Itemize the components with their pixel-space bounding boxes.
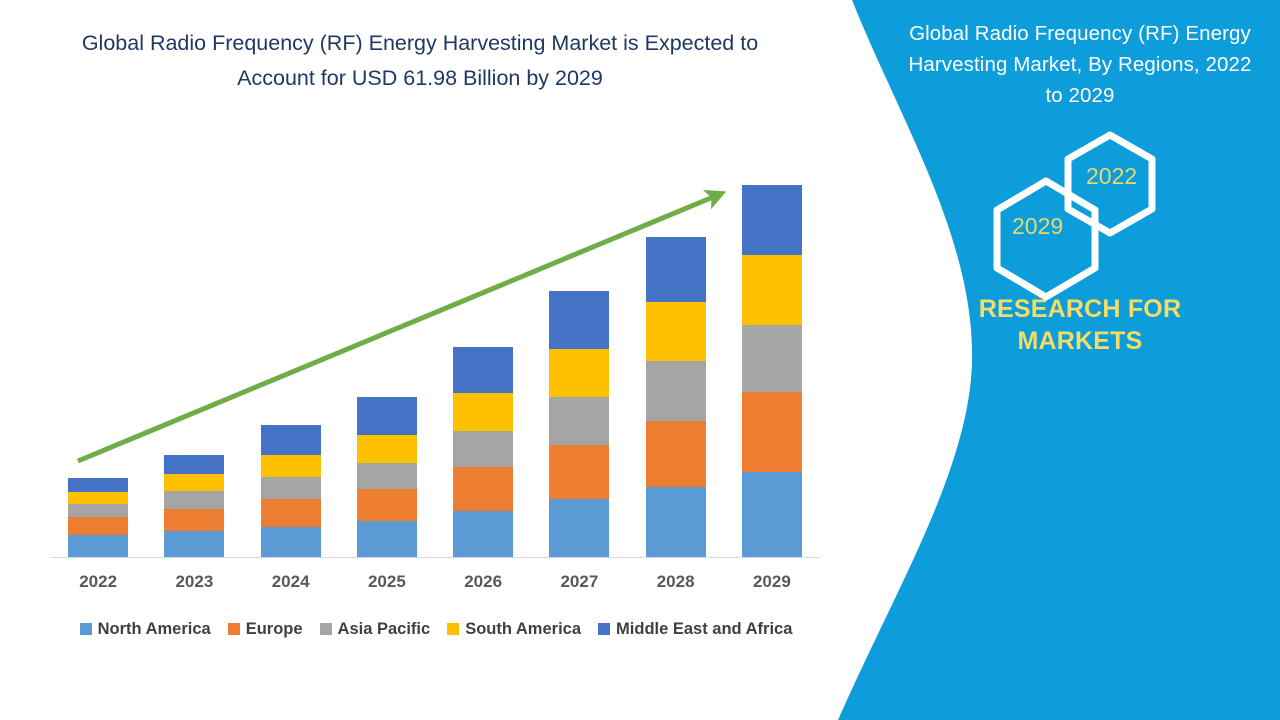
bar-segment xyxy=(453,347,513,393)
legend-swatch-icon xyxy=(598,623,610,635)
bar-segment xyxy=(549,349,609,397)
bar-segment xyxy=(261,477,321,499)
bar-segment xyxy=(453,511,513,557)
legend-item[interactable]: Asia Pacific xyxy=(320,620,431,639)
bar-segment xyxy=(742,392,802,472)
legend-label: Europe xyxy=(246,620,303,639)
bar-segment xyxy=(164,455,224,474)
bar-segment xyxy=(261,425,321,455)
bar-segment xyxy=(646,421,706,487)
hexagon-2029-label: 2029 xyxy=(1012,213,1063,240)
x-axis-labels: 20222023202420252026202720282029 xyxy=(50,572,820,598)
bar-segment xyxy=(549,445,609,499)
legend-swatch-icon xyxy=(447,623,459,635)
bar-segment xyxy=(453,467,513,511)
legend-item[interactable]: North America xyxy=(80,620,211,639)
bar-segment xyxy=(261,455,321,477)
panel-content: Global Radio Frequency (RF) Energy Harve… xyxy=(880,0,1280,720)
bar-segment xyxy=(549,397,609,445)
bar-segment xyxy=(164,531,224,557)
bar-column-2022 xyxy=(68,478,128,557)
bar-segment xyxy=(742,472,802,557)
bar-segment xyxy=(357,521,417,557)
bar-segment xyxy=(357,397,417,435)
bar-segment xyxy=(357,435,417,463)
legend-label: Asia Pacific xyxy=(338,620,431,639)
x-axis-label-2027: 2027 xyxy=(531,572,627,592)
bar-segment xyxy=(742,185,802,255)
legend-swatch-icon xyxy=(228,623,240,635)
legend-item[interactable]: Europe xyxy=(228,620,303,639)
bar-segment xyxy=(742,255,802,325)
bar-column-2025 xyxy=(357,397,417,557)
infographic-canvas: Global Radio Frequency (RF) Energy Harve… xyxy=(0,0,1280,720)
bar-segment xyxy=(68,535,128,557)
bar-segment xyxy=(646,487,706,557)
legend-label: North America xyxy=(98,620,211,639)
x-axis-label-2022: 2022 xyxy=(50,572,146,592)
hexagon-2022-label: 2022 xyxy=(1086,163,1137,190)
bar-column-2023 xyxy=(164,455,224,557)
legend-item[interactable]: Middle East and Africa xyxy=(598,620,792,639)
x-axis-label-2024: 2024 xyxy=(243,572,339,592)
legend-label: South America xyxy=(465,620,581,639)
bar-segment xyxy=(549,499,609,557)
bar-segment xyxy=(453,393,513,431)
bar-segment xyxy=(68,492,128,504)
bar-column-2026 xyxy=(453,347,513,557)
bar-segment xyxy=(68,478,128,492)
chart-legend: North AmericaEuropeAsia PacificSouth Ame… xyxy=(50,616,822,642)
x-axis-label-2026: 2026 xyxy=(435,572,531,592)
bar-segment xyxy=(646,302,706,361)
bar-segment xyxy=(261,527,321,557)
stacked-bar-group xyxy=(50,170,820,557)
bar-segment xyxy=(68,504,128,517)
x-axis-label-2028: 2028 xyxy=(628,572,724,592)
bar-segment xyxy=(164,474,224,491)
hexagon-badges: 2022 2029 xyxy=(930,127,1230,267)
bar-segment xyxy=(549,291,609,349)
legend-item[interactable]: South America xyxy=(447,620,581,639)
x-axis-label-2025: 2025 xyxy=(339,572,435,592)
x-axis-label-2023: 2023 xyxy=(146,572,242,592)
bar-column-2029 xyxy=(742,185,802,557)
legend-label: Middle East and Africa xyxy=(616,620,792,639)
bar-column-2027 xyxy=(549,291,609,557)
legend-swatch-icon xyxy=(320,623,332,635)
x-axis-line xyxy=(50,557,820,558)
bar-segment xyxy=(164,509,224,531)
bar-segment xyxy=(261,499,321,527)
chart-title: Global Radio Frequency (RF) Energy Harve… xyxy=(60,26,780,96)
panel-title: Global Radio Frequency (RF) Energy Harve… xyxy=(900,18,1260,111)
bar-segment xyxy=(68,517,128,535)
bar-segment xyxy=(357,489,417,521)
bar-segment xyxy=(164,491,224,509)
x-axis-label-2029: 2029 xyxy=(724,572,820,592)
bar-column-2024 xyxy=(261,425,321,557)
bar-segment xyxy=(453,431,513,467)
bar-segment xyxy=(646,361,706,421)
bar-segment xyxy=(357,463,417,489)
bar-column-2028 xyxy=(646,237,706,557)
bar-segment xyxy=(646,237,706,302)
legend-swatch-icon xyxy=(80,623,92,635)
bar-segment xyxy=(742,325,802,392)
